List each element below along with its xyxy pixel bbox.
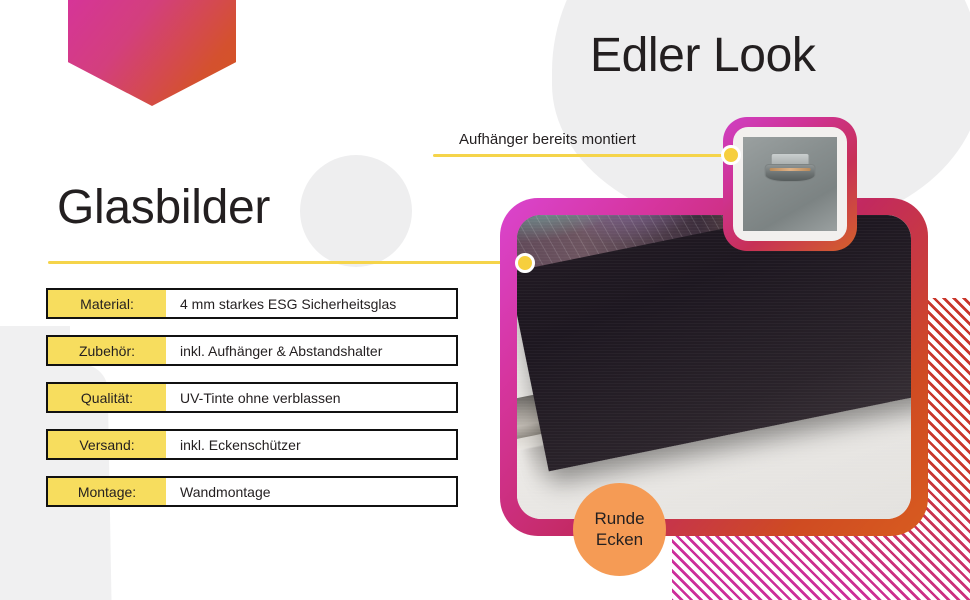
spec-key: Zubehör: [48,337,166,364]
shield-badge-icon [68,0,236,106]
callout-hanger-label: Aufhänger bereits montiert [459,131,636,148]
spec-key: Qualität: [48,384,166,411]
table-row: Versand: inkl. Eckenschützer [46,429,458,460]
spec-key: Montage: [48,478,166,505]
photo-grain-overlay [517,215,911,519]
infographic-canvas: Edler Look Glasbilder Aufhänger bereits … [0,0,970,600]
leader-dot-hanger [721,145,741,165]
product-image-card [500,198,928,536]
product-photo [517,215,911,519]
page-title: Glasbilder [57,180,270,235]
hanger-detail-card [723,117,857,251]
spec-table: Material: 4 mm starkes ESG Sicherheitsgl… [46,288,458,523]
round-corner-line-2: Ecken [596,530,643,550]
spec-key: Material: [48,290,166,317]
hanger-bowl [765,164,816,181]
spec-value: inkl. Aufhänger & Abstandshalter [166,337,456,364]
spec-value: Wandmontage [166,478,456,505]
round-corner-line-1: Runde [594,509,644,529]
leader-line-hanger [433,154,733,157]
decor-circle-behind-title [300,155,412,267]
spec-value: inkl. Eckenschützer [166,431,456,458]
spec-value: UV-Tinte ohne verblassen [166,384,456,411]
table-row: Qualität: UV-Tinte ohne verblassen [46,382,458,413]
leader-line-product [48,261,526,264]
spec-key: Versand: [48,431,166,458]
status-badge-round-corners: Runde Ecken [573,483,666,576]
table-row: Montage: Wandmontage [46,476,458,507]
hanger-slot [770,168,811,171]
leader-dot-product [515,253,535,273]
table-row: Zubehör: inkl. Aufhänger & Abstandshalte… [46,335,458,366]
hanger-photo [743,137,837,231]
hanger-detail-frame [733,127,847,241]
wall-hanger-icon [765,153,816,181]
page-title-right: Edler Look [590,28,815,83]
table-row: Material: 4 mm starkes ESG Sicherheitsgl… [46,288,458,319]
spec-value: 4 mm starkes ESG Sicherheitsglas [166,290,456,317]
